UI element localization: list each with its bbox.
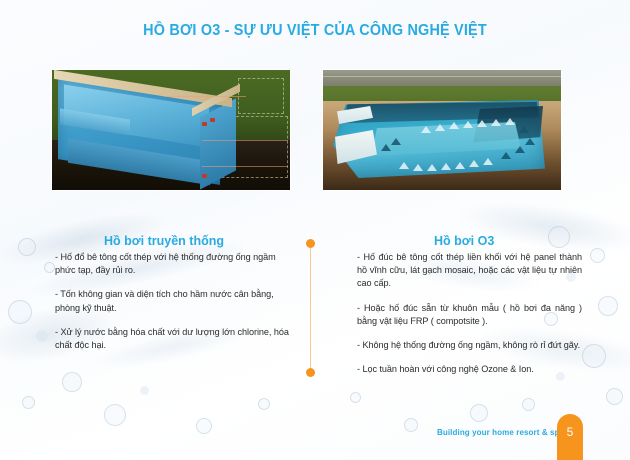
bubble-decoration: [590, 248, 605, 263]
list-item: - Lọc tuần hoàn với công nghệ Ozone & Io…: [357, 363, 582, 376]
bubble-decoration: [104, 404, 126, 426]
bubble-decoration: [522, 398, 535, 411]
divider-dot-bottom: [306, 368, 315, 377]
jet-marker-icon: [463, 121, 473, 128]
footer-tagline: Building your home resort & spa: [437, 428, 564, 437]
right-column-body: - Hố đúc bê tông cốt thép liền khối với …: [357, 251, 582, 376]
jet-marker-icon: [435, 124, 445, 131]
jet-marker-icon: [491, 119, 501, 126]
bubble-decoration: [196, 418, 212, 434]
bubble-decoration: [18, 238, 36, 256]
bubble-decoration: [62, 372, 82, 392]
bubble-decoration: [598, 296, 618, 316]
slide-root: HỒ BƠI O3 - SỰ ƯU VIỆT CỦA CÔNG NGHỆ VIỆ…: [0, 0, 630, 460]
jet-marker-icon: [477, 120, 487, 127]
bubble-decoration: [44, 262, 55, 273]
page-title: HỒ BƠI O3 - SỰ ƯU VIỆT CỦA CÔNG NGHỆ VIỆ…: [22, 22, 608, 40]
jet-marker-icon: [469, 160, 479, 167]
bubble-decoration: [548, 226, 570, 248]
jet-marker-icon: [381, 144, 391, 151]
jet-marker-icon: [515, 146, 525, 153]
jet-marker-icon: [391, 138, 401, 145]
list-item: - Hoặc hố đúc sẵn từ khuôn mẫu ( hồ bơi …: [357, 302, 582, 328]
jet-marker-icon: [501, 152, 511, 159]
list-item: - Không hệ thống đường ống ngầm, không r…: [357, 339, 582, 352]
bubble-decoration: [404, 418, 418, 432]
jet-marker-icon: [483, 158, 493, 165]
bubble-decoration: [470, 404, 488, 422]
traditional-pool-image: [52, 70, 290, 190]
list-item: - Xử lý nước bằng hóa chất với dư lượng …: [55, 326, 293, 352]
jet-marker-icon: [449, 122, 459, 129]
jet-marker-icon: [525, 138, 535, 145]
bubble-decoration: [36, 330, 48, 342]
fitting-marker: [202, 174, 207, 178]
left-column-heading: Hồ bơi truyền thống: [104, 234, 224, 248]
jet-marker-icon: [441, 163, 451, 170]
jet-marker-icon: [413, 164, 423, 171]
list-item: - Hố đổ bê tông cốt thép với hệ thống đư…: [55, 251, 293, 277]
jet-marker-icon: [427, 164, 437, 171]
bubble-decoration: [606, 388, 623, 405]
jet-marker-icon: [455, 162, 465, 169]
left-column-body: - Hố đổ bê tông cốt thép với hệ thống đư…: [55, 251, 293, 363]
page-number-tab: 5: [557, 414, 583, 460]
bubble-decoration: [350, 392, 361, 403]
garden-wall: [323, 70, 561, 86]
bubble-decoration: [582, 344, 606, 368]
o3-pool-image: [323, 70, 561, 190]
bubble-decoration: [8, 300, 32, 324]
column-divider: [310, 244, 311, 372]
bubble-decoration: [22, 396, 35, 409]
bubble-decoration: [258, 398, 270, 410]
jet-marker-icon: [421, 126, 431, 133]
divider-dot-top: [306, 239, 315, 248]
page-number: 5: [557, 425, 583, 439]
pipe-line: [202, 140, 288, 141]
jet-marker-icon: [505, 118, 515, 125]
jet-marker-icon: [519, 126, 529, 133]
fitting-marker: [210, 118, 215, 122]
pipe-line: [164, 96, 246, 97]
list-item: - Tốn không gian và diện tích cho hầm nư…: [55, 288, 293, 314]
right-column-heading: Hồ bơi O3: [434, 234, 494, 248]
list-item: - Hố đúc bê tông cốt thép liền khối với …: [357, 251, 582, 291]
fence-line: [323, 76, 561, 77]
jet-marker-icon: [399, 162, 409, 169]
bubble-decoration: [140, 386, 149, 395]
fitting-marker: [202, 122, 207, 126]
pipe-line: [202, 166, 288, 167]
